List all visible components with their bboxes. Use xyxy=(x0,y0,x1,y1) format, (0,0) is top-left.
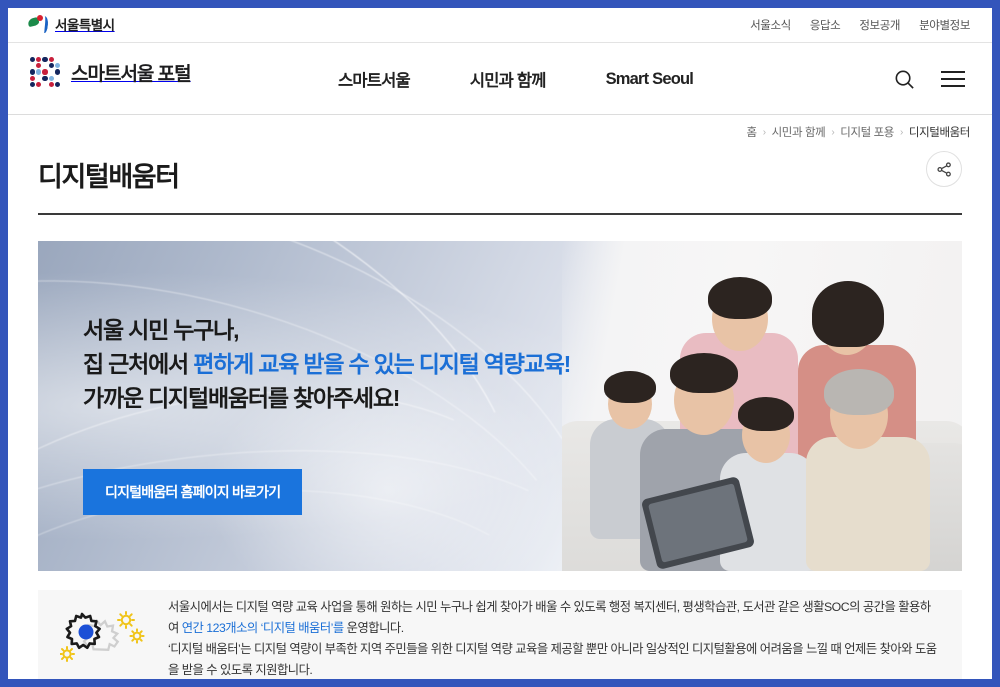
page-title-row: 디지털배움터 xyxy=(38,147,962,215)
info-p1-part-b: 운영합니다. xyxy=(344,621,404,635)
hero-line-2-plain: 집 근처에서 xyxy=(83,351,193,377)
utility-link-news[interactable]: 서울소식 xyxy=(750,17,791,33)
hero-line-2-highlight: 편하게 교육 받을 수 있는 디지털 역량교육! xyxy=(193,351,570,377)
dot-matrix-logo-icon xyxy=(30,57,60,87)
info-description: 서울시에서는 디지털 역량 교육 사업을 통해 원하는 시민 누구나 쉽게 찾아… xyxy=(168,597,940,679)
hero-line-3: 가까운 디지털배움터를 찾아주세요! xyxy=(83,381,570,415)
breadcrumb-separator: › xyxy=(900,127,903,138)
main-header: 스마트서울 포털 스마트서울 시민과 함께 Smart Seoul xyxy=(8,43,992,115)
main-nav: 스마트서울 시민과 함께 Smart Seoul xyxy=(338,43,693,115)
gears-icon xyxy=(60,606,146,672)
breadcrumb-separator: › xyxy=(763,127,766,138)
info-paragraph-1: 서울시에서는 디지털 역량 교육 사업을 통해 원하는 시민 누구나 쉽게 찾아… xyxy=(168,597,940,639)
breadcrumb-item-with-citizens[interactable]: 시민과 함께 xyxy=(772,124,826,140)
breadcrumb: 홈 › 시민과 함께 › 디지털 포용 › 디지털배움터 xyxy=(747,124,971,140)
breadcrumb-item-digital-inclusion[interactable]: 디지털 포용 xyxy=(840,124,894,140)
header-tools xyxy=(893,43,966,115)
info-panel: 서울시에서는 디지털 역량 교육 사업을 통해 원하는 시민 누구나 쉽게 찾아… xyxy=(38,590,962,679)
portal-name: 스마트서울 포털 xyxy=(71,59,191,86)
nav-item-smart-seoul-en[interactable]: Smart Seoul xyxy=(606,70,693,89)
digital-baeumteo-homepage-button[interactable]: 디지털배움터 홈페이지 바로가기 xyxy=(83,469,302,515)
hero-photo xyxy=(562,241,962,571)
page-frame: 서울특별시 서울소식 응답소 정보공개 분야별정보 스마트서울 포털 스마트서울… xyxy=(8,8,992,679)
utility-nav: 서울소식 응답소 정보공개 분야별정보 xyxy=(750,17,970,33)
share-button[interactable] xyxy=(926,151,962,187)
breadcrumb-separator: › xyxy=(831,127,834,138)
hero-headline: 서울 시민 누구나, 집 근처에서 편하게 교육 받을 수 있는 디지털 역량교… xyxy=(83,313,570,415)
hero-banner: 서울 시민 누구나, 집 근처에서 편하게 교육 받을 수 있는 디지털 역량교… xyxy=(38,241,962,571)
portal-logo[interactable]: 스마트서울 포털 xyxy=(30,57,191,87)
hero-line-2: 집 근처에서 편하게 교육 받을 수 있는 디지털 역량교육! xyxy=(83,347,570,381)
info-paragraph-2: ‘디지털 배움터’는 디지털 역량이 부족한 지역 주민들을 위한 디지털 역량… xyxy=(168,639,940,679)
info-p1-highlight: 연간 123개소의 ‘디지털 배움터’를 xyxy=(182,621,344,635)
breadcrumb-item-home[interactable]: 홈 xyxy=(747,124,757,140)
search-icon[interactable] xyxy=(893,68,916,91)
seoul-city-name: 서울특별시 xyxy=(55,14,115,34)
seoul-emblem-icon xyxy=(28,14,50,34)
breadcrumb-bar: 홈 › 시민과 함께 › 디지털 포용 › 디지털배움터 xyxy=(8,115,992,147)
nav-item-with-citizens[interactable]: 시민과 함께 xyxy=(470,67,546,91)
hero-line-1: 서울 시민 누구나, xyxy=(83,313,570,347)
page-title: 디지털배움터 xyxy=(38,155,179,194)
utility-link-answer[interactable]: 응답소 xyxy=(810,17,841,33)
utility-link-field-info[interactable]: 분야별정보 xyxy=(919,17,970,33)
utility-link-open-info[interactable]: 정보공개 xyxy=(859,17,900,33)
nav-item-smart-seoul-ko[interactable]: 스마트서울 xyxy=(338,67,410,91)
utility-bar: 서울특별시 서울소식 응답소 정보공개 분야별정보 xyxy=(8,8,992,43)
breadcrumb-item-current: 디지털배움터 xyxy=(909,124,970,140)
hamburger-menu-icon[interactable] xyxy=(940,69,966,89)
seoul-city-logo[interactable]: 서울특별시 xyxy=(28,14,115,34)
